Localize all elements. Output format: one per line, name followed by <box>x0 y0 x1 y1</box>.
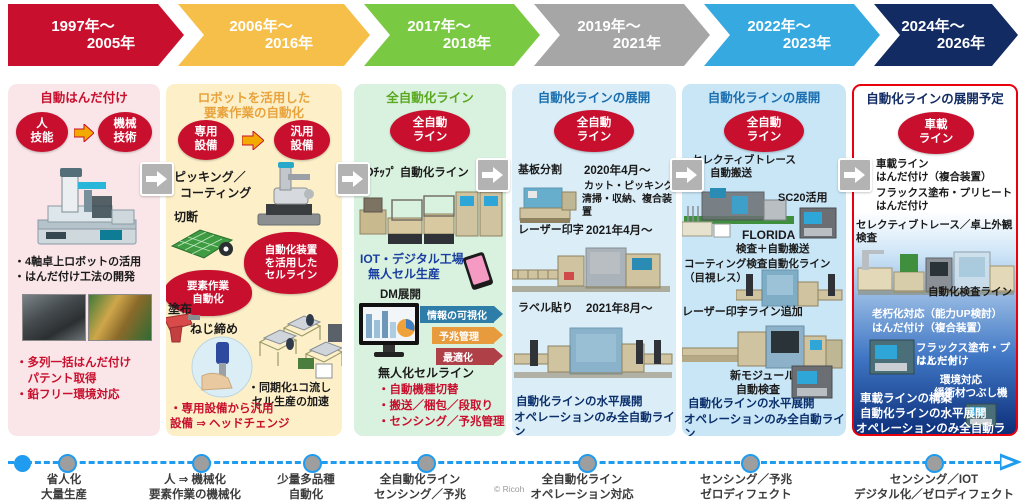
ellipse-general-line1: 汎用 <box>291 126 314 140</box>
ribbon-predictive-mgmt: 予兆管理 <box>432 327 494 344</box>
label-dm-expansion: DM展開 <box>380 288 421 302</box>
timeline-axis <box>8 461 1000 464</box>
period-4-to: 2021年 <box>534 35 710 52</box>
ellipse-6-line2: ライン <box>919 133 954 147</box>
panel-5-title: 自動化ラインの展開 <box>682 84 846 106</box>
ellipse-5-line1: 全自動 <box>747 117 782 131</box>
label-cut-picking-1: カット・ピッキング <box>584 181 674 194</box>
label-sync-1: ・同期化1コ流し <box>248 382 331 396</box>
label-col3-b1: ・自動機種切替 <box>378 383 459 397</box>
label-idchip-line: IDﾁｯﾌﾟ 自動化ライン <box>362 166 469 180</box>
bubble-cell-line-3: セルライン <box>265 269 318 282</box>
timeline-caption-4-line2: センシング／予兆 <box>360 488 480 503</box>
monitor-illustration <box>358 302 420 363</box>
cut-picking-machine-illustration <box>518 182 580 229</box>
label-date-2021-04: 2021年4月～ <box>586 224 652 238</box>
timeline-dot-7 <box>925 454 944 473</box>
ellipse-5-line2: ライン <box>747 131 782 145</box>
panel-6-title: 自動化ラインの展開予定 <box>854 86 1016 107</box>
ribbon-3-label: 最適化 <box>443 349 473 364</box>
panel-1-note-4: パテント取得 <box>16 372 97 386</box>
period-chevron-5: 2022年～ 2023年 <box>704 4 880 66</box>
timeline-caption-5-line1: 全自動化ライン <box>518 473 646 488</box>
ellipse-dedicated-equipment: 専用 設備 <box>178 120 234 160</box>
label-florida: FLORIDA <box>742 228 795 243</box>
panel-line-deployment-2: 自動化ラインの展開 全自動 ライン セレクティブトレース 自動搬送 SC20活用 <box>682 84 846 436</box>
timeline-caption-2-line2: 要素作業の機械化 <box>130 488 260 503</box>
timeline-dot-3 <box>303 454 322 473</box>
label-auto-inspection-line: 自動化検査ライン <box>928 286 1012 299</box>
roadmap-infographic: 1997年～ 2005年 2006年～ 2016年 2017年～ 2018年 2… <box>0 0 1024 504</box>
label-env-response: 環境対応 <box>940 374 982 387</box>
label-label-sticking: ラベル貼り <box>518 302 573 316</box>
connector-arrow-icon-1 <box>140 162 174 196</box>
period-chevron-4: 2019年～ 2021年 <box>534 4 710 66</box>
label-vehicle-solder: はんだ付け（複合装置） <box>876 171 992 184</box>
connector-arrow-icon-2 <box>336 162 370 196</box>
period-1-to: 2005年 <box>8 35 184 52</box>
timeline-caption-3-line2: 自動化 <box>252 488 360 503</box>
panel-auto-soldering: 自動はんだ付け 人 技能 機械 技術 <box>8 84 160 436</box>
timeline-dot-5 <box>578 454 597 473</box>
label-laser-line-added: レーザー印字ライン追加 <box>682 306 803 320</box>
timeline-caption-7-line2: デジタル化／ゼロディフェクト <box>848 488 1020 503</box>
solder-photo-1 <box>22 294 86 341</box>
ellipse-full-auto-line-3: 全自動 ライン <box>390 110 470 152</box>
label-unmanned-cell-prod: 無人セル生産 <box>368 267 440 282</box>
pcb-illustration <box>170 224 236 269</box>
bubble-element-2: 自動化 <box>192 293 224 306</box>
period-6-to: 2026年 <box>874 35 1018 52</box>
timeline-caption-7: センシング／IOT デジタル化／ゼロディフェクト <box>848 473 1020 502</box>
panel-2-title-line2: 要素作業の自動化 <box>166 106 342 121</box>
period-3-from: 2017年～ <box>364 18 540 35</box>
label-applicator-line-illustration <box>514 322 674 395</box>
label-col4-b1: 自動化ラインの水平展開 <box>516 395 643 409</box>
period-chevron-6: 2024年～ 2026年 <box>874 4 1018 66</box>
tablet-illustration <box>458 250 498 297</box>
timeline-dot-2 <box>192 454 211 473</box>
screwdriver-illustration <box>188 336 256 403</box>
period-5-to: 2023年 <box>704 35 880 52</box>
timeline-caption-6-line2: ゼロディフェクト <box>688 488 804 503</box>
timeline-caption-1-line1: 省人化 <box>6 473 122 488</box>
panel-1-note-1: ・4軸卓上ロボットの活用 <box>14 256 141 270</box>
timeline-caption-2: 人 ⇒ 機械化 要素作業の機械化 <box>130 473 260 502</box>
timeline-caption-4: 全自動化ライン センシング／予兆 <box>360 473 480 502</box>
ellipse-machine-tech-line1: 機械 <box>114 118 137 132</box>
period-chevron-3: 2017年～ 2018年 <box>364 4 540 66</box>
label-iot-digital-factory: IOT・デジタル工場 <box>360 252 464 267</box>
period-chevron-row: 1997年～ 2005年 2006年～ 2016年 2017年～ 2018年 2… <box>0 4 1024 70</box>
period-3-to: 2018年 <box>364 35 540 52</box>
bubble-cell-line: 自動化装置 を活用した セルライン <box>244 232 338 294</box>
timeline-dot-start <box>14 455 31 472</box>
label-col4-b2: オペレーションのみ全自動ライン <box>514 411 676 436</box>
label-florida-sub: 検査＋自動搬送 <box>736 243 810 256</box>
ellipse-full-auto-line-4: 全自動 ライン <box>554 110 634 152</box>
label-col6-b1: 車載ラインの構築 <box>860 392 952 406</box>
ellipse-general-equipment: 汎用 設備 <box>274 120 330 160</box>
ribbon-1-label: 情報の可視化 <box>427 307 487 322</box>
period-4-from: 2019年～ <box>534 18 710 35</box>
period-chevron-1: 1997年～ 2005年 <box>8 4 184 66</box>
label-picking: ピッキング／ <box>174 170 246 185</box>
ellipse-3-line1: 全自動 <box>413 117 448 131</box>
copyright-notice: © Ricoh <box>494 484 524 494</box>
label-aging-2: はんだ付け（複合装置） <box>872 322 988 335</box>
timeline-caption-4-line1: 全自動化ライン <box>360 473 480 488</box>
label-flux-preheat: フラックス塗布・プリヒート <box>876 187 1012 200</box>
ellipse-human-skill: 人 技能 <box>16 112 68 152</box>
label-laser-marking: レーザー印字 <box>518 224 584 238</box>
panel-robot-element-automation: ロボットを活用した 要素作業の自動化 専用 設備 汎用 設備 ピッキング／ コー… <box>166 84 342 436</box>
label-date-2021-08: 2021年8月～ <box>586 302 652 316</box>
label-cut-picking-2: 清掃・収納、複合装置 <box>582 194 676 219</box>
timeline-caption-1: 省人化 大量生産 <box>6 473 122 502</box>
ellipse-4-line2: ライン <box>577 131 612 145</box>
label-col3-b3: ・センシング／予兆管理 <box>378 415 505 429</box>
timeline-caption-1-line2: 大量生産 <box>6 488 122 503</box>
ellipse-dedicated-line1: 専用 <box>195 126 218 140</box>
label-new-module-1: 新モジュール <box>730 370 795 384</box>
ribbon-optimization: 最適化 <box>436 348 494 365</box>
timeline-dot-6 <box>741 454 760 473</box>
ellipse-3-line2: ライン <box>413 131 448 145</box>
timeline-caption-7-line1: センシング／IOT <box>848 473 1020 488</box>
timeline-caption-5: 全自動化ライン オペレーション対応 <box>518 473 646 502</box>
panel-1-note-3: ・多列一括はんだ付け <box>16 356 131 370</box>
connector-arrow-icon-4 <box>670 158 704 192</box>
label-col5-b1: 自動化ラインの水平展開 <box>688 397 815 411</box>
ellipse-human-skill-line1: 人 <box>36 118 48 132</box>
label-date-2020-04: 2020年4月～ <box>584 164 650 178</box>
idchip-line-illustration <box>358 184 504 251</box>
sc20-unit-illustration <box>798 206 838 245</box>
ellipse-machine-tech-line2: 技術 <box>114 132 137 146</box>
ellipse-human-skill-line2: 技能 <box>31 132 54 146</box>
label-solder-2: はんだ付け <box>876 200 929 213</box>
label-board-split: 基板分割 <box>518 164 562 178</box>
label-unmanned-cell-line: 無人化セルライン <box>378 366 474 381</box>
label-selective-trace-1: セレクティブトレース <box>692 154 796 167</box>
panel-planned-deployment: 自動化ラインの展開予定 車載 ライン 車載ライン はんだ付け（複合装置） フラッ… <box>852 84 1018 436</box>
timeline-dot-1 <box>58 454 77 473</box>
label-col6-b2: 自動化ラインの水平展開 <box>860 407 987 421</box>
ribbon-info-visualization: 情報の可視化 <box>420 306 494 323</box>
panel-2-title-line1: ロボットを活用した <box>166 84 342 106</box>
panel-line-deployment-1: 自動化ラインの展開 全自動 ライン 基板分割 2020年4月～ カット・ピッキン… <box>512 84 676 436</box>
panel-full-auto-line: 全自動化ライン 全自動 ライン IDﾁｯﾌﾟ 自動化ライン <box>354 84 506 436</box>
timeline-caption-5-line2: オペレーション対応 <box>518 488 646 503</box>
panel-4-title: 自動化ラインの展開 <box>512 84 676 106</box>
timeline-caption-6-line1: センシング／予兆 <box>688 473 804 488</box>
label-sc20: SC20活用 <box>778 192 828 206</box>
panel-1-note-5: ・鉛フリー環境対応 <box>16 388 120 402</box>
period-6-from: 2024年～ <box>874 18 1018 35</box>
period-1-from: 1997年～ <box>8 18 184 35</box>
timeline-caption-6: センシング／予兆 ゼロディフェクト <box>688 473 804 502</box>
ellipse-vehicle-line: 車載 ライン <box>898 112 974 154</box>
ellipse-full-auto-line-5: 全自動 ライン <box>724 110 804 152</box>
connector-arrow-icon-5 <box>838 158 872 192</box>
label-col2-bottom-1: ・専用設備から汎用 <box>170 402 274 416</box>
desktop-robot-illustration <box>32 166 142 257</box>
timeline-caption-3: 少量多品種 自動化 <box>252 473 360 502</box>
ellipse-4-line1: 全自動 <box>577 117 612 131</box>
timeline-dot-4 <box>417 454 436 473</box>
bubble-cell-line-2: を活用した <box>265 257 318 270</box>
period-2-to: 2016年 <box>178 35 370 52</box>
timeline-caption-2-line1: 人 ⇒ 機械化 <box>130 473 260 488</box>
scara-robot-illustration <box>252 162 334 235</box>
label-solder-3: はんだ付け <box>916 355 969 368</box>
label-cutting: 切断 <box>174 210 198 225</box>
period-2-from: 2006年～ <box>178 18 370 35</box>
label-vehicle-line: 車載ライン <box>876 158 929 171</box>
transition-arrow-icon-1 <box>74 124 94 147</box>
laser-marking-line-illustration <box>512 242 672 305</box>
connector-arrow-icon-3 <box>476 158 510 192</box>
panel-3-title: 全自動化ライン <box>354 84 506 106</box>
label-col3-b2: ・搬送／梱包／段取り <box>378 399 493 413</box>
cell-production-line-illustration <box>254 298 342 395</box>
ellipse-6-line1: 車載 <box>925 119 948 133</box>
solder-photo-2 <box>88 294 152 341</box>
label-col6-b3: オペレーションのみ全自動ライン <box>856 422 1016 436</box>
label-col2-bottom-2: 設備 ⇒ ヘッドチェンジ <box>170 417 290 431</box>
label-col5-b2: オペレーションのみ全自動ライン <box>684 413 846 436</box>
label-new-module-2: 自動検査 <box>736 384 780 398</box>
period-chevron-2: 2006年～ 2016年 <box>178 4 370 66</box>
panel-1-title: 自動はんだ付け <box>8 84 160 106</box>
panel-1-note-2: ・はんだ付け工法の開発 <box>14 271 135 285</box>
bubble-element-1: 要素作業 <box>187 280 229 293</box>
label-coating: コーティング <box>180 186 251 201</box>
bubble-cell-line-1: 自動化装置 <box>265 244 318 257</box>
period-5-from: 2022年～ <box>704 18 880 35</box>
label-aging-1: 老朽化対応（能力UP検討） <box>872 308 1002 321</box>
timeline-caption-3-line1: 少量多品種 <box>252 473 360 488</box>
ellipse-dedicated-line2: 設備 <box>195 140 218 154</box>
ribbon-2-label: 予兆管理 <box>439 328 479 343</box>
ellipse-machine-tech: 機械 技術 <box>98 112 152 152</box>
composite-machine-illustration <box>868 338 916 381</box>
ellipse-general-line2: 設備 <box>291 140 314 154</box>
transition-arrow-icon-2 <box>242 131 264 155</box>
